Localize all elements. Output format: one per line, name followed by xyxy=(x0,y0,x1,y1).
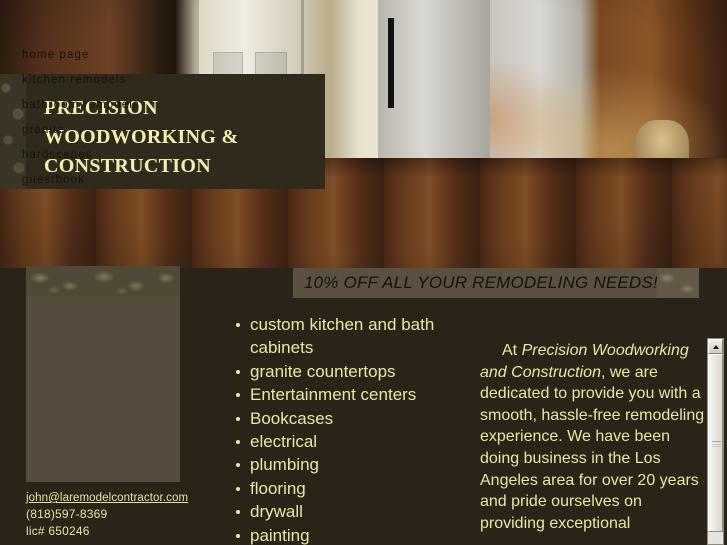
about-text-panel: At Precision Woodworking and Constructio… xyxy=(480,340,705,545)
scrollbar-thumb[interactable] xyxy=(708,354,723,532)
sidebar-item-guestbook[interactable]: guestbook xyxy=(22,173,154,187)
promo-banner-text: 10% OFF ALL YOUR REMODELING NEEDS! xyxy=(293,273,658,293)
contact-license-number: lic# 650246 xyxy=(26,523,236,540)
contact-email-link[interactable]: john@laremodelcontractor.com xyxy=(26,490,236,506)
list-item: flooring xyxy=(232,477,458,500)
scrollbar-grip-icon xyxy=(712,441,721,448)
promo-banner: 10% OFF ALL YOUR REMODELING NEEDS! xyxy=(293,268,699,298)
sidebar-damask-header xyxy=(26,266,180,296)
list-item: granite countertops xyxy=(232,360,458,383)
about-lead-text: At xyxy=(502,342,522,359)
services-list: custom kitchen and bath cabinets granite… xyxy=(232,313,458,545)
about-body-text: , we are dedicated to provide you with a… xyxy=(480,364,704,532)
list-item: Entertainment centers xyxy=(232,383,458,406)
sidebar-item-home-page[interactable]: home page xyxy=(22,48,154,62)
list-item: painting xyxy=(232,524,458,545)
list-item: electrical xyxy=(232,430,458,453)
sidebar-panel-background xyxy=(26,296,180,482)
about-scrollbar[interactable] xyxy=(707,338,724,545)
main-navigation: home page kitchen remodels bathroom remo… xyxy=(22,48,154,198)
promo-damask-edge xyxy=(657,268,699,298)
sidebar xyxy=(26,266,180,482)
about-paragraph: At Precision Woodworking and Constructio… xyxy=(480,340,705,534)
list-item: custom kitchen and bath cabinets xyxy=(232,313,458,360)
list-item: drywall xyxy=(232,500,458,523)
contact-block: john@laremodelcontractor.com (818)597-83… xyxy=(26,490,236,540)
list-item: Bookcases xyxy=(232,407,458,430)
sidebar-item-granite[interactable]: granite xyxy=(22,123,154,137)
contact-phone: (818)597-8369 xyxy=(26,506,236,523)
sidebar-item-hardscapes[interactable]: hardscapes xyxy=(22,148,154,162)
chevron-up-icon xyxy=(713,345,719,349)
sidebar-item-bathroom-remodels[interactable]: bathroom remodels xyxy=(22,98,154,112)
page-root: PRECISION WOODWORKING & CONSTRUCTION hom… xyxy=(0,0,727,545)
list-item: plumbing xyxy=(232,453,458,476)
scrollbar-track[interactable] xyxy=(708,354,723,544)
scroll-up-button[interactable] xyxy=(708,339,723,354)
sidebar-item-kitchen-remodels[interactable]: kitchen remodels xyxy=(22,73,154,87)
